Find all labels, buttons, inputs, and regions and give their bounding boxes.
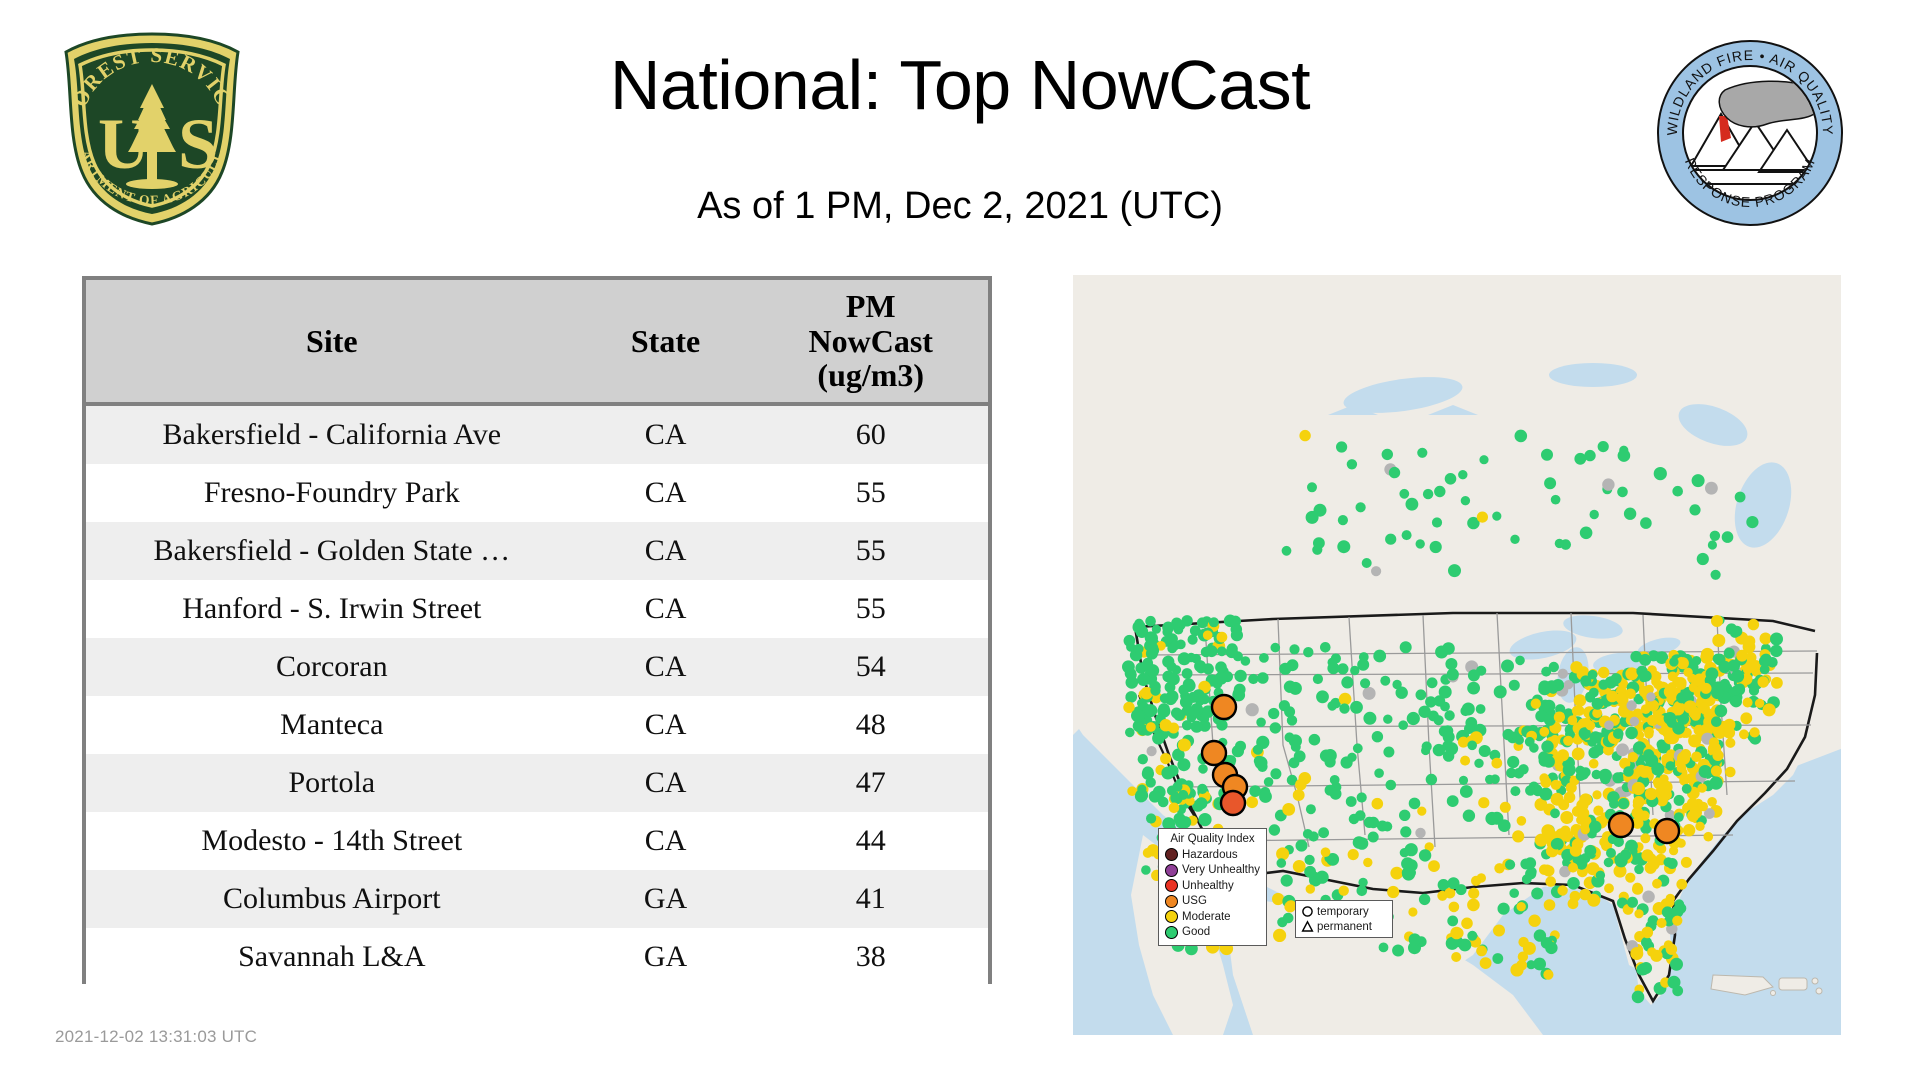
- monitor-dot: [1604, 883, 1614, 893]
- monitor-dot: [1711, 615, 1723, 627]
- column-header-state: State: [578, 280, 754, 404]
- monitor-dot: [1492, 953, 1503, 964]
- monitor-dot: [1770, 645, 1782, 657]
- monitor-dot: [1372, 798, 1384, 810]
- symbol-legend-temporary-label: temporary: [1317, 906, 1369, 918]
- pm-cell: 44: [753, 812, 988, 870]
- symbol-legend-permanent-label: permanent: [1317, 921, 1372, 933]
- monitor-dot: [1589, 759, 1599, 769]
- monitor-dot: [1507, 756, 1519, 768]
- monitor-dot: [1705, 482, 1718, 495]
- monitor-dot: [1284, 681, 1296, 693]
- monitor-dot: [1306, 884, 1315, 893]
- monitor-dot: [1543, 866, 1553, 876]
- monitor-dot: [1574, 706, 1584, 716]
- monitor-dot: [1544, 899, 1556, 911]
- monitor-dot: [1195, 797, 1207, 809]
- monitor-dot: [1672, 722, 1685, 735]
- aqi-legend-item-label: Unhealthy: [1182, 880, 1234, 892]
- monitor-dot: [1320, 642, 1331, 653]
- monitor-dot: [1588, 747, 1600, 759]
- monitor-dot: [1652, 879, 1662, 889]
- monitor-dot: [1362, 558, 1372, 568]
- monitor-dot: [1126, 691, 1138, 703]
- site-cell: Hanford - S. Irwin Street: [86, 580, 578, 638]
- monitor-dot: [1564, 792, 1575, 803]
- aqi-legend: Air Quality Index HazardousVery Unhealth…: [1158, 828, 1267, 946]
- monitor-dot: [1353, 743, 1363, 753]
- monitor-dot: [1341, 676, 1353, 688]
- monitor-dot: [1669, 657, 1678, 666]
- monitor-dot: [1133, 621, 1146, 634]
- monitor-dot: [1515, 735, 1524, 744]
- monitor-dot: [1305, 855, 1315, 865]
- monitor-dot: [1221, 791, 1245, 815]
- monitor-dot: [1586, 721, 1596, 731]
- monitor-dot: [1479, 745, 1491, 757]
- monitor-dot: [1363, 687, 1376, 700]
- monitor-dot: [1480, 957, 1492, 969]
- monitor-dot: [1443, 731, 1455, 743]
- monitor-dot: [1447, 916, 1458, 927]
- monitor-dot: [1744, 636, 1755, 647]
- monitor-dot: [1498, 903, 1510, 915]
- monitor-dot: [1510, 535, 1519, 544]
- monitor-dot: [1273, 929, 1286, 942]
- monitor-dot: [1616, 743, 1629, 756]
- monitor-dot: [1512, 830, 1524, 842]
- aqi-legend-item: Unhealthy: [1165, 878, 1260, 894]
- monitor-dot: [1699, 703, 1710, 714]
- pm-cell: 48: [753, 696, 988, 754]
- monitor-dot: [1691, 711, 1701, 721]
- monitor-dot: [1578, 808, 1589, 819]
- symbol-legend-permanent: permanent: [1301, 919, 1387, 934]
- monitor-dot: [1306, 804, 1316, 814]
- pm-cell: 41: [753, 870, 988, 928]
- aqi-legend-item: USG: [1165, 894, 1260, 910]
- monitor-dot: [1224, 615, 1237, 628]
- monitor-dot: [1167, 644, 1177, 654]
- monitor-dot: [1746, 516, 1758, 528]
- monitor-dot: [1350, 666, 1359, 675]
- monitor-dot: [1683, 668, 1692, 677]
- monitor-dot: [1606, 848, 1616, 858]
- monitor-dot: [1520, 859, 1531, 870]
- monitor-dot: [1477, 512, 1488, 523]
- monitor-dot: [1448, 877, 1460, 889]
- monitor-dot: [1699, 765, 1712, 778]
- monitor-dot: [1592, 698, 1604, 710]
- monitor-dot: [1200, 694, 1210, 704]
- monitor-dot: [1460, 756, 1470, 766]
- table-row: Savannah L&AGA38: [86, 928, 988, 986]
- column-header-site: Site: [86, 280, 578, 404]
- monitor-dot: [1285, 732, 1295, 742]
- monitor-dot: [1712, 634, 1725, 647]
- aqi-legend-item-label: Hazardous: [1182, 849, 1238, 861]
- site-cell: Portola: [86, 754, 578, 812]
- monitor-dot: [1517, 902, 1526, 911]
- monitor-dot: [1625, 667, 1638, 680]
- state-cell: CA: [578, 464, 754, 522]
- triangle-icon: [1301, 920, 1314, 933]
- monitor-dot: [1463, 810, 1475, 822]
- monitor-dot: [1191, 721, 1203, 733]
- monitor-dot: [1598, 441, 1609, 452]
- monitor-dot: [1167, 672, 1177, 682]
- monitor-dot: [1234, 670, 1246, 682]
- monitor-dot: [1674, 812, 1684, 822]
- monitor-dot: [1379, 943, 1389, 953]
- monitor-dot: [1447, 795, 1459, 807]
- monitor-dot: [1271, 643, 1281, 653]
- aqi-legend-item-label: Very Unhealthy: [1182, 864, 1260, 876]
- monitor-dot: [1543, 970, 1553, 980]
- monitor-dot: [1383, 715, 1392, 724]
- monitor-dot: [1760, 633, 1772, 645]
- column-header-pm-nowcast: PM NowCast (ug/m3): [753, 280, 988, 404]
- monitor-dot: [1372, 731, 1383, 742]
- monitor-dot: [1346, 796, 1357, 807]
- monitor-dot: [1325, 756, 1336, 767]
- monitor-dot: [1620, 849, 1631, 860]
- monitor-dot: [1303, 647, 1313, 657]
- monitor-dot: [1241, 656, 1251, 666]
- aqi-legend-item: Hazardous: [1165, 847, 1260, 863]
- monitor-dot: [1551, 793, 1564, 806]
- pm-cell: 60: [753, 404, 988, 464]
- monitor-dot: [1289, 644, 1299, 654]
- monitor-dot: [1126, 669, 1137, 680]
- monitor-dot: [1500, 802, 1511, 813]
- monitor-dot: [1664, 733, 1676, 745]
- monitor-dot: [1306, 511, 1319, 524]
- aqi-legend-item-label: Good: [1182, 926, 1210, 938]
- monitor-dot: [1760, 654, 1771, 665]
- monitor-dot: [1632, 782, 1645, 795]
- column-header-pm-line3: (ug/m3): [753, 358, 988, 393]
- monitor-dot: [1287, 715, 1297, 725]
- monitor-dot: [1380, 676, 1390, 686]
- warp-circular-logo: WILDLAND FIRE • AIR QUALITY RESPONSE PRO…: [1655, 38, 1845, 228]
- monitor-dot: [1291, 742, 1301, 752]
- table-row: PortolaCA47: [86, 754, 988, 812]
- monitor-dot: [1515, 656, 1525, 666]
- monitor-dot: [1435, 646, 1448, 659]
- monitor-dot: [1555, 539, 1564, 548]
- monitor-dot: [1545, 942, 1557, 954]
- monitor-dot: [1625, 873, 1635, 883]
- monitor-dot: [1618, 449, 1631, 462]
- monitor-dot: [1143, 848, 1153, 858]
- column-header-pm-line1: PM: [753, 289, 988, 324]
- monitor-dot: [1296, 840, 1308, 852]
- monitor-dot: [1698, 802, 1708, 812]
- monitor-dot: [1676, 879, 1687, 890]
- monitor-dot: [1421, 746, 1430, 755]
- monitor-dot: [1691, 752, 1702, 763]
- monitor-dot: [1627, 897, 1638, 908]
- monitor-dot: [1416, 689, 1427, 700]
- top-nowcast-table: Site State PM NowCast (ug/m3) Bakersfiel…: [86, 280, 988, 986]
- monitor-dot: [1137, 673, 1150, 686]
- monitor-dot: [1672, 486, 1683, 497]
- monitor-dot: [1430, 541, 1442, 553]
- monitor-dot: [1363, 858, 1372, 867]
- monitor-dot: [1590, 510, 1599, 519]
- monitor-dot: [1194, 660, 1206, 672]
- monitor-dot: [1609, 813, 1633, 837]
- monitor-dot: [1514, 768, 1525, 779]
- monitor-dot: [1581, 825, 1590, 834]
- monitor-dot: [1198, 813, 1211, 826]
- monitor-dot: [1282, 546, 1292, 556]
- monitor-dot: [1682, 784, 1692, 794]
- monitor-dot: [1771, 677, 1783, 689]
- monitor-dot: [1704, 832, 1714, 842]
- monitor-dot: [1215, 661, 1227, 673]
- monitor-dot: [1580, 675, 1591, 686]
- monitor-dot: [1598, 667, 1609, 678]
- monitor-dot: [1550, 808, 1560, 818]
- state-cell: CA: [578, 696, 754, 754]
- column-header-pm-line2: NowCast: [753, 324, 988, 359]
- monitor-dot: [1173, 709, 1185, 721]
- table-row: Hanford - S. Irwin StreetCA55: [86, 580, 988, 638]
- table-row: Modesto - 14th StreetCA44: [86, 812, 988, 870]
- monitor-dot: [1338, 515, 1348, 525]
- monitor-dot: [1641, 849, 1653, 861]
- monitor-dot: [1399, 489, 1409, 499]
- monitor-dot: [1146, 813, 1156, 823]
- monitor-dot: [1277, 858, 1287, 868]
- monitor-dot: [1701, 683, 1712, 694]
- pm-cell: 55: [753, 522, 988, 580]
- monitor-dot: [1715, 705, 1728, 718]
- monitor-dot: [1540, 777, 1551, 788]
- table-row: Fresno-Foundry ParkCA55: [86, 464, 988, 522]
- pm-cell: 55: [753, 464, 988, 522]
- monitor-dot: [1531, 888, 1543, 900]
- monitor-dot: [1209, 617, 1219, 627]
- monitor-dot: [1681, 857, 1692, 868]
- monitor-dot: [1551, 780, 1561, 790]
- monitor-dot: [1282, 803, 1295, 816]
- monitor-dot: [1672, 985, 1683, 996]
- monitor-dot: [1479, 455, 1488, 464]
- monitor-dot: [1428, 860, 1440, 872]
- monitor-dot: [1374, 768, 1384, 778]
- monitor-dot: [1760, 665, 1770, 675]
- monitor-dot: [1347, 753, 1356, 762]
- monitor-dot: [1750, 727, 1760, 737]
- monitor-dot: [1568, 715, 1578, 725]
- monitor-dot: [1357, 886, 1368, 897]
- monitor-dot: [1510, 786, 1520, 796]
- monitor-dot: [1141, 865, 1151, 875]
- monitor-dot: [1409, 798, 1421, 810]
- monitor-dot: [1328, 658, 1338, 668]
- air-quality-map[interactable]: Air Quality Index HazardousVery Unhealth…: [1073, 275, 1841, 1035]
- table-row: Bakersfield - Golden State …CA55: [86, 522, 988, 580]
- site-cell: Columbus Airport: [86, 870, 578, 928]
- monitor-dot: [1270, 722, 1281, 733]
- monitor-dot: [1651, 763, 1664, 776]
- monitor-dot: [1640, 833, 1650, 843]
- monitor-dot: [1584, 845, 1596, 857]
- monitor-dot: [1461, 496, 1470, 505]
- monitor-dot: [1505, 860, 1515, 870]
- monitor-dot: [1147, 746, 1157, 756]
- monitor-dot: [1339, 886, 1349, 896]
- monitor-dot: [1689, 504, 1700, 515]
- monitor-dot: [1711, 766, 1722, 777]
- monitor-dot: [1634, 909, 1643, 918]
- monitor-dot: [1353, 836, 1366, 849]
- site-cell: Manteca: [86, 696, 578, 754]
- site-cell: Savannah L&A: [86, 928, 578, 986]
- monitor-dot: [1549, 685, 1558, 694]
- monitor-dot: [1178, 685, 1189, 696]
- monitor-dot: [1736, 650, 1748, 662]
- monitor-dot: [1604, 720, 1614, 730]
- aqi-legend-color-dot: [1165, 926, 1178, 939]
- footer-timestamp: 2021-12-02 13:31:03 UTC: [55, 1027, 257, 1047]
- column-header-state-label: State: [631, 323, 700, 359]
- monitor-dot: [1647, 947, 1656, 956]
- monitor-dot: [1468, 669, 1480, 681]
- monitor-dot: [1675, 677, 1687, 689]
- monitor-dot: [1645, 788, 1657, 800]
- monitor-dot: [1182, 720, 1192, 730]
- page-subtitle: As of 1 PM, Dec 2, 2021 (UTC): [0, 185, 1920, 228]
- monitor-dot: [1657, 918, 1667, 928]
- monitor-dot: [1485, 812, 1498, 825]
- monitor-dot: [1125, 728, 1135, 738]
- monitor-dot: [1347, 459, 1357, 469]
- monitor-dot: [1624, 508, 1636, 520]
- monitor-dot: [1304, 866, 1316, 878]
- monitor-dot: [1168, 723, 1179, 734]
- monitor-dot: [1400, 641, 1412, 653]
- monitor-dot: [1178, 790, 1188, 800]
- aqi-legend-color-dot: [1165, 879, 1178, 892]
- monitor-dot: [1755, 699, 1764, 708]
- monitor-dot: [1706, 667, 1719, 680]
- monitor-dot: [1293, 860, 1306, 873]
- monitor-dot: [1692, 656, 1701, 665]
- aqi-legend-item-label: Moderate: [1182, 911, 1231, 923]
- aqi-legend-color-dot: [1165, 910, 1178, 923]
- monitor-dot: [1563, 763, 1576, 776]
- monitor-dot: [1321, 847, 1331, 857]
- aqi-legend-item: Moderate: [1165, 909, 1260, 925]
- monitor-dot: [1460, 785, 1473, 798]
- monitor-dot: [1270, 768, 1281, 779]
- monitor-dot: [1709, 737, 1719, 747]
- monitor-dot: [1632, 884, 1643, 895]
- monitor-dot: [1405, 843, 1418, 856]
- monitor-dot: [1316, 690, 1329, 703]
- monitor-dot: [1434, 715, 1444, 725]
- monitor-dot: [1674, 795, 1685, 806]
- monitor-dot: [1350, 701, 1363, 714]
- monitor-dot: [1432, 517, 1442, 527]
- monitor-dot: [1724, 648, 1735, 659]
- monitor-dot: [1695, 822, 1704, 831]
- monitor-dot: [1426, 774, 1437, 785]
- monitor-dot: [1138, 754, 1148, 764]
- monitor-dot: [1592, 790, 1601, 799]
- monitor-dot: [1501, 660, 1514, 673]
- monitor-dot: [1541, 740, 1553, 752]
- monitor-dot: [1515, 430, 1528, 443]
- monitor-dot: [1561, 826, 1571, 836]
- monitor-dot: [1590, 731, 1602, 743]
- monitor-dot: [1256, 718, 1266, 728]
- aqi-legend-item-label: USG: [1182, 895, 1207, 907]
- monitor-dot: [1731, 670, 1744, 683]
- monitor-dot: [1337, 540, 1350, 553]
- aqi-legend-item: Good: [1165, 925, 1260, 941]
- monitor-dot: [1387, 886, 1399, 898]
- monitor-dot: [1415, 828, 1425, 838]
- monitor-dot: [1551, 495, 1561, 505]
- monitor-dot: [1383, 747, 1394, 758]
- monitor-dot: [1390, 867, 1403, 880]
- monitor-dot: [1269, 824, 1280, 835]
- monitor-dot: [1407, 712, 1420, 725]
- monitor-dot: [1609, 799, 1619, 809]
- monitor-dot: [1735, 683, 1745, 693]
- monitor-dot: [1623, 766, 1634, 777]
- monitor-dot: [1655, 819, 1679, 843]
- table-row: Columbus AirportGA41: [86, 870, 988, 928]
- monitor-dot: [1666, 761, 1676, 771]
- monitor-dot: [1476, 946, 1487, 957]
- monitor-dot: [1576, 767, 1589, 780]
- monitor-dot: [1307, 482, 1317, 492]
- monitor-dot: [1749, 686, 1759, 696]
- monitor-dot: [1217, 632, 1228, 643]
- monitor-dot: [1389, 467, 1400, 478]
- monitor-dot: [1604, 858, 1614, 868]
- monitor-dot: [1644, 729, 1653, 738]
- monitor-dot: [1551, 839, 1562, 850]
- site-cell: Corcoran: [86, 638, 578, 696]
- monitor-dot: [1356, 502, 1366, 512]
- monitor-dot: [1447, 668, 1459, 680]
- monitor-dot: [1158, 703, 1170, 715]
- monitor-dot: [1253, 745, 1263, 755]
- monitor-dot: [1462, 703, 1475, 716]
- monitor-dot: [1392, 945, 1404, 957]
- monitor-dot: [1563, 736, 1573, 746]
- monitor-dot: [1698, 783, 1707, 792]
- monitor-dot: [1570, 845, 1582, 857]
- monitor-dot: [1574, 694, 1587, 707]
- monitor-dot: [1616, 693, 1627, 704]
- monitor-dot: [1293, 789, 1305, 801]
- monitor-dot: [1176, 640, 1186, 650]
- monitor-dot: [1246, 796, 1258, 808]
- monitor-dot: [1570, 891, 1581, 902]
- monitor-dot: [1281, 875, 1293, 887]
- monitor-dot: [1124, 635, 1136, 647]
- pm-cell: 55: [753, 580, 988, 638]
- monitor-dot: [1458, 737, 1469, 748]
